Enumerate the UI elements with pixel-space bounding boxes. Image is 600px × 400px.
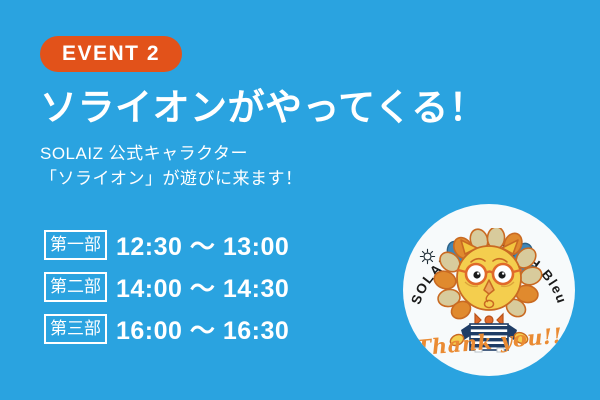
schedule-part-label: 第一部	[44, 230, 107, 260]
schedule-part-label: 第三部	[44, 314, 107, 344]
schedule-row: 第二部 14:00 ～ 14:30	[44, 270, 289, 304]
schedule-time: 14:00 ～ 14:30	[116, 269, 289, 305]
schedule-time: 16:00 ～ 16:30	[116, 311, 289, 347]
character-sticker: SOLAIZ × FRENCH Bleu	[403, 204, 575, 376]
event-badge: EVENT 2	[40, 36, 182, 72]
schedule-part-label: 第二部	[44, 272, 107, 302]
solaion-lion-mascot-icon	[423, 228, 555, 353]
subtitle-line-1: SOLAIZ 公式キャラクター	[40, 142, 400, 167]
subtitle-line-2: 「ソライオン」が遊びに来ます！	[40, 167, 400, 192]
subtitle: SOLAIZ 公式キャラクター 「ソライオン」が遊びに来ます！	[40, 142, 400, 191]
schedule-time: 12:30 ～ 13:00	[116, 227, 289, 263]
page-title: ソライオンがやってくる！	[40, 88, 400, 128]
schedule-list: 第一部 12:30 ～ 13:00 第二部 14:00 ～ 14:30 第三部 …	[44, 228, 289, 354]
poster-content: EVENT 2 ソライオンがやってくる！ SOLAIZ 公式キャラクター 「ソラ…	[40, 36, 400, 191]
schedule-row: 第一部 12:30 ～ 13:00	[44, 228, 289, 262]
schedule-row: 第三部 16:00 ～ 16:30	[44, 312, 289, 346]
event-poster: EVENT 2 ソライオンがやってくる！ SOLAIZ 公式キャラクター 「ソラ…	[0, 0, 600, 400]
